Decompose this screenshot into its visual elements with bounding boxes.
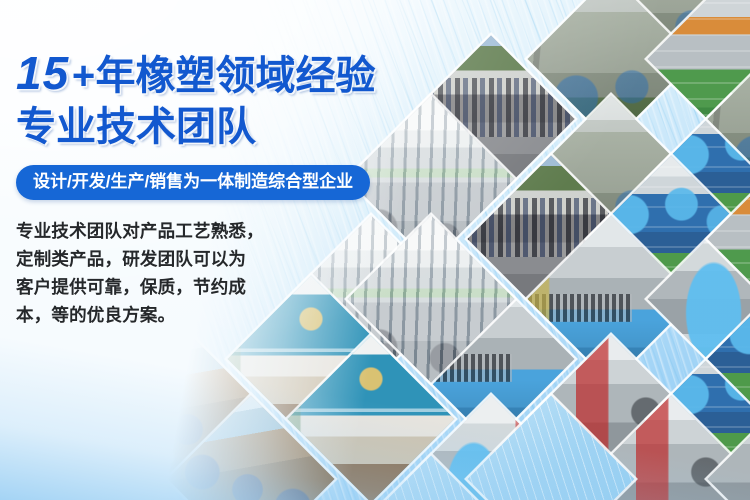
body-line: 专业技术团队对产品工艺熟悉，	[16, 217, 274, 245]
headline-years-number: 15	[16, 47, 71, 99]
copy-block: 15+年橡塑领域经验 专业技术团队 设计/开发/生产/销售为一体制造综合型企业 …	[16, 48, 456, 329]
body-line: 本，等的优良方案。	[16, 301, 274, 329]
tagline-pill: 设计/开发/生产/销售为一体制造综合型企业	[16, 165, 370, 200]
headline-line-2: 专业技术团队	[16, 102, 456, 152]
body-line: 客户提供可靠，保质，节约成	[16, 273, 274, 301]
body-paragraph: 专业技术团队对产品工艺熟悉，定制类产品，研发团队可以为客户提供可靠，保质，节约成…	[16, 217, 274, 329]
headline-line-1-text: 年橡塑领域经验	[96, 54, 376, 98]
headline-line-1: 15+年橡塑领域经验	[16, 48, 456, 101]
body-line: 定制类产品，研发团队可以为	[16, 245, 274, 273]
promo-banner: 15+年橡塑领域经验 专业技术团队 设计/开发/生产/销售为一体制造综合型企业 …	[0, 0, 750, 500]
headline-plus-sign: +	[71, 54, 95, 98]
